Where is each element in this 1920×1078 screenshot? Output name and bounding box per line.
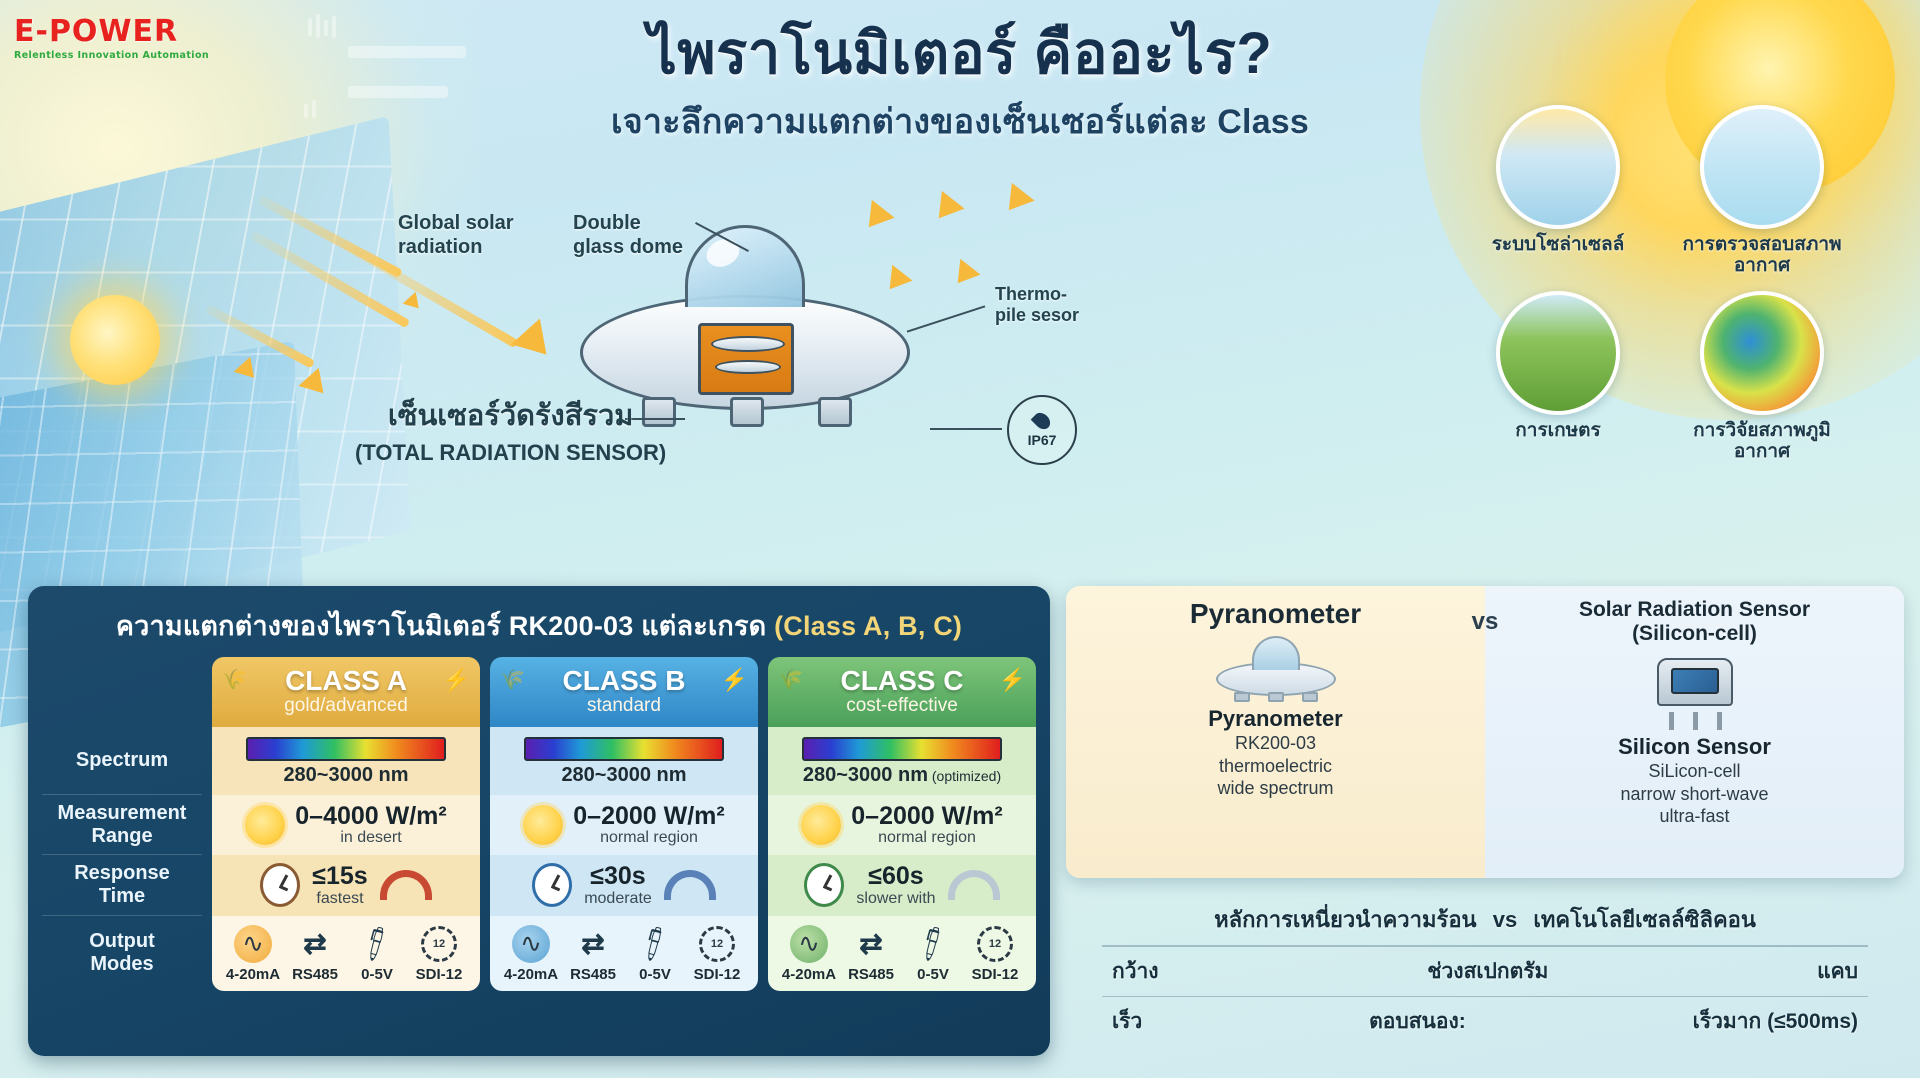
- grid-corner: [42, 657, 202, 727]
- silicon-desc-2: narrow short-wave: [1495, 783, 1894, 806]
- bolt-icon: ⚡: [999, 667, 1026, 693]
- device-foot: [818, 397, 852, 427]
- class-b-header: 🌾 ⚡ CLASS B standard: [490, 657, 758, 727]
- range-note: in desert: [295, 829, 446, 847]
- pyranometer-column: Pyranometer Pyranometer RK200-03 thermoe…: [1066, 586, 1485, 878]
- comparison-principle-row: หลักการเหนี่ยวนำความร้อน vs เทคโนโลยีเซล…: [1082, 902, 1888, 937]
- output-mode-item: 🖊 0-5V: [902, 924, 964, 983]
- leader-line-ip67: [930, 428, 1002, 430]
- response-value: ≤15s: [312, 863, 367, 889]
- row-label-output-modes: Output Modes: [42, 916, 202, 991]
- class-panel-title-thai: ความแตกต่างของไพราโนมิเตอร์ RK200-03 แต่…: [116, 611, 774, 641]
- output-label: RS485: [562, 966, 624, 983]
- output-mode-item: 12 SDI-12: [408, 924, 470, 983]
- class-b-spectrum-cell: 280~3000 nm: [490, 727, 758, 795]
- spectrum-range: 280~3000 nm: [283, 764, 408, 786]
- sdi12-icon: 12: [421, 926, 457, 962]
- wheat-icon: 🌾: [222, 667, 247, 692]
- pyranometer-desc-3: wide spectrum: [1076, 777, 1475, 800]
- row-label-measure-line1: Measurement: [58, 802, 187, 825]
- sun-desert-icon: [245, 805, 285, 845]
- output-mode-item: 12 SDI-12: [686, 924, 748, 983]
- spectrum-right-value: แคบ: [1817, 955, 1858, 988]
- label-global-line1: Global solar: [398, 212, 514, 236]
- class-a-header: 🌾 ⚡ CLASS A gold/advanced: [212, 657, 480, 727]
- class-c-range-cell: 0–2000 W/m² normal region: [768, 795, 1036, 855]
- class-b-subtitle: standard: [496, 695, 752, 717]
- output-label: 4-20mA: [222, 966, 284, 983]
- output-mode-item: 4-20mA: [500, 924, 562, 983]
- response-note: fastest: [312, 890, 367, 908]
- spectrum-value: 280~3000 nm (optimized): [774, 764, 1030, 787]
- label-thermo-line2: pile sesor: [995, 305, 1079, 326]
- row-label-output-line1: Output: [89, 930, 155, 953]
- glass-dome-icon: [685, 225, 805, 307]
- response-value: ≤30s: [584, 863, 652, 889]
- response-value: ≤60s: [856, 863, 935, 889]
- brand-tagline: Relentless Innovation Automation: [14, 50, 209, 61]
- pyranometer-desc-1: RK200-03: [1076, 732, 1475, 755]
- class-c-header: 🌾 ⚡ CLASS C cost-effective: [768, 657, 1036, 727]
- output-label: 0-5V: [902, 966, 964, 983]
- bolt-icon: ⚡: [721, 667, 748, 693]
- principle-right: เทคโนโลยีเซลล์ซิลิคอน: [1533, 907, 1756, 932]
- silicon-desc-3: ultra-fast: [1495, 805, 1894, 828]
- label-thermo-line1: Thermo-: [995, 284, 1079, 305]
- class-a-response-cell: ≤15s fastest: [212, 855, 480, 915]
- water-drop-icon: [1031, 410, 1054, 433]
- sensor-label-english: (TOTAL RADIATION SENSOR): [355, 440, 666, 466]
- response-left-value: เร็ว: [1112, 1005, 1142, 1038]
- silicon-title-line2: (Silicon-cell): [1495, 622, 1894, 646]
- pyranometer-device-icon: [1216, 636, 1336, 702]
- output-mode-item: 12 SDI-12: [964, 924, 1026, 983]
- output-label: 4-20mA: [500, 966, 562, 983]
- sun-icon: [523, 805, 563, 845]
- silicon-title-line1: Solar Radiation Sensor: [1495, 598, 1894, 622]
- class-c-spectrum-cell: 280~3000 nm (optimized): [768, 727, 1036, 795]
- sdi12-icon: 12: [977, 926, 1013, 962]
- range-value: 0–2000 W/m²: [851, 803, 1002, 829]
- brand-logo: E-POWER Relentless Innovation Automation: [14, 14, 209, 61]
- output-mode-item: 4-20mA: [778, 924, 840, 983]
- application-caption: การเกษตร: [1478, 421, 1638, 442]
- pyranometer-title: Pyranometer: [1076, 598, 1475, 630]
- label-thermopile-sensor: Thermo- pile sesor: [995, 284, 1079, 326]
- class-c-output-cell: 4-20mA ⇄ RS485 🖊 0-5V 12 SDI-12: [768, 916, 1036, 991]
- weather-station-icon: [1700, 105, 1824, 229]
- bolt-icon: ⚡: [443, 667, 470, 693]
- row-label-output-line2: Modes: [89, 953, 155, 976]
- spectrum-range: 280~3000 nm: [803, 764, 928, 786]
- row-label-spectrum: Spectrum: [42, 727, 202, 795]
- leader-line-thermo: [907, 305, 986, 332]
- class-panel-title: ความแตกต่างของไพราโนมิเตอร์ RK200-03 แต่…: [42, 604, 1036, 647]
- output-mode-item: ⇄ RS485: [562, 924, 624, 983]
- cloud-icon: [948, 870, 1000, 900]
- small-sun-icon: [70, 295, 160, 385]
- silicon-desc-1: SiLicon-cell: [1495, 760, 1894, 783]
- gauge-icon: [664, 870, 716, 900]
- application-item: การวิจัยสภาพภูมิอากาศ: [1682, 291, 1842, 463]
- output-mode-item: 🖊 0-5V: [624, 924, 686, 983]
- ray-arrow: [927, 191, 964, 227]
- response-note: moderate: [584, 890, 652, 908]
- clock-icon: [260, 863, 300, 907]
- range-note: normal region: [573, 829, 724, 847]
- divider: [1102, 945, 1868, 947]
- class-c-subtitle: cost-effective: [774, 695, 1030, 717]
- class-a-name: CLASS A: [218, 665, 474, 697]
- range-value: 0–4000 W/m²: [295, 803, 446, 829]
- output-mode-item: ⇄ RS485: [840, 924, 902, 983]
- response-right-value: เร็วมาก (≤500ms): [1693, 1005, 1858, 1038]
- device-foot: [730, 397, 764, 427]
- class-b-range-cell: 0–2000 W/m² normal region: [490, 795, 758, 855]
- class-comparison-grid: 🌾 ⚡ CLASS A gold/advanced 🌾 ⚡ CLASS B st…: [42, 657, 1036, 991]
- clock-icon: [532, 863, 572, 907]
- silicon-device-name: Silicon Sensor: [1495, 734, 1894, 760]
- output-label: SDI-12: [408, 966, 470, 983]
- spectrum-bar: [246, 737, 446, 761]
- solar-panel-icon: [1496, 105, 1620, 229]
- output-label: 0-5V: [346, 966, 408, 983]
- row-label-response-line2: Time: [74, 885, 170, 908]
- label-global-radiation: Global solar radiation: [398, 212, 514, 259]
- brand-name: E-POWER: [14, 14, 209, 49]
- spectrum-value: 280~3000 nm: [218, 764, 474, 787]
- application-caption: ระบบโซล่าเซลล์: [1478, 235, 1638, 256]
- spectrum-value: 280~3000 nm: [496, 764, 752, 787]
- divider: [1102, 996, 1868, 998]
- label-global-line2: radiation: [398, 236, 514, 260]
- silicon-sensor-icon: [1647, 652, 1743, 730]
- output-label: RS485: [840, 966, 902, 983]
- spectrum-range: 280~3000 nm: [561, 764, 686, 786]
- voltage-probe-icon: 🖊: [355, 922, 399, 965]
- climate-map-icon: [1700, 291, 1824, 415]
- vs-label: vs: [1472, 608, 1499, 636]
- application-item: ระบบโซล่าเซลล์: [1478, 105, 1638, 277]
- sensor-label-thai: เซ็นเซอร์วัดรังสีรวม: [355, 392, 666, 438]
- rs485-arrows-icon: ⇄: [859, 930, 882, 958]
- class-comparison-panel: ความแตกต่างของไพราโนมิเตอร์ RK200-03 แต่…: [28, 586, 1050, 1056]
- output-label: 4-20mA: [778, 966, 840, 983]
- clock-icon: [804, 863, 844, 907]
- voltage-probe-icon: 🖊: [633, 922, 677, 965]
- page-title: ไพราโนมิเตอร์ คืออะไร?: [0, 22, 1920, 86]
- sdi12-icon: 12: [699, 926, 735, 962]
- class-b-output-cell: 4-20mA ⇄ RS485 🖊 0-5V 12 SDI-12: [490, 916, 758, 991]
- row-label-measure-line2: Range: [58, 825, 187, 848]
- output-mode-item: 4-20mA: [222, 924, 284, 983]
- pyranometer-desc-2: thermoelectric: [1076, 755, 1475, 778]
- application-caption: การตรวจสอบสภาพอากาศ: [1682, 235, 1842, 277]
- class-a-range-cell: 0–4000 W/m² in desert: [212, 795, 480, 855]
- comparison-response-row: เร็ว ตอบสนอง: เร็วมาก (≤500ms): [1082, 1005, 1888, 1038]
- gauge-icon: [380, 870, 432, 900]
- ip67-text: IP67: [1028, 432, 1057, 448]
- rs485-arrows-icon: ⇄: [303, 930, 326, 958]
- comparison-summary-rows: หลักการเหนี่ยวนำความร้อน vs เทคโนโลยีเซล…: [1066, 884, 1904, 1056]
- output-label: RS485: [284, 966, 346, 983]
- application-icons: ระบบโซล่าเซลล์ การตรวจสอบสภาพอากาศ การเก…: [1478, 105, 1898, 477]
- total-radiation-sensor-label: เซ็นเซอร์วัดรังสีรวม (TOTAL RADIATION SE…: [355, 392, 666, 466]
- current-wave-icon: [512, 925, 550, 963]
- range-value: 0–2000 W/m²: [573, 803, 724, 829]
- application-caption: การวิจัยสภาพภูมิอากาศ: [1682, 421, 1842, 463]
- ray-arrow: [997, 183, 1034, 219]
- application-item: การเกษตร: [1478, 291, 1638, 463]
- current-wave-icon: [790, 925, 828, 963]
- class-panel-title-accent: (Class A, B, C): [774, 611, 962, 641]
- application-item: การตรวจสอบสภาพอากาศ: [1682, 105, 1842, 277]
- output-label: 0-5V: [624, 966, 686, 983]
- spectrum-bar: [524, 737, 724, 761]
- silicon-sensor-column: Solar Radiation Sensor (Silicon-cell) Si…: [1485, 586, 1904, 878]
- wheat-icon: 🌾: [778, 667, 803, 692]
- thermopile-sensor-icon: [698, 323, 794, 395]
- row-label-response-time: Response Time: [42, 855, 202, 915]
- current-wave-icon: [234, 925, 272, 963]
- rs485-arrows-icon: ⇄: [581, 930, 604, 958]
- class-a-subtitle: gold/advanced: [218, 695, 474, 717]
- response-mid-label: ตอบสนอง:: [1369, 1005, 1466, 1038]
- class-c-name: CLASS C: [774, 665, 1030, 697]
- voltage-probe-icon: 🖊: [911, 922, 955, 965]
- agriculture-field-icon: [1496, 291, 1620, 415]
- ray-arrow: [511, 319, 560, 368]
- response-note: slower with: [856, 890, 935, 908]
- class-c-response-cell: ≤60s slower with: [768, 855, 1036, 915]
- spectrum-note: (optimized): [928, 768, 1001, 784]
- spectrum-mid-label: ช่วงสเปกตรัม: [1427, 955, 1548, 988]
- class-a-spectrum-cell: 280~3000 nm: [212, 727, 480, 795]
- comparison-spectrum-row: กว้าง ช่วงสเปกตรัม แคบ: [1082, 955, 1888, 988]
- output-mode-item: ⇄ RS485: [284, 924, 346, 983]
- pyranometer-vs-silicon-panel: vs Pyranometer Pyranometer RK200-03 ther…: [1066, 586, 1904, 878]
- principle-left: หลักการเหนี่ยวนำความร้อน: [1214, 907, 1477, 932]
- spectrum-left-value: กว้าง: [1112, 955, 1159, 988]
- wheat-icon: 🌾: [500, 667, 525, 692]
- ray-arrow: [948, 259, 981, 291]
- pyranometer-device-name: Pyranometer: [1076, 706, 1475, 732]
- range-note: normal region: [851, 829, 1002, 847]
- class-a-output-cell: 4-20mA ⇄ RS485 🖊 0-5V 12 SDI-12: [212, 916, 480, 991]
- class-b-response-cell: ≤30s moderate: [490, 855, 758, 915]
- ip67-badge: IP67: [1007, 395, 1077, 465]
- class-b-name: CLASS B: [496, 665, 752, 697]
- spectrum-bar: [802, 737, 1002, 761]
- principle-vs: vs: [1493, 907, 1517, 932]
- row-label-response-line1: Response: [74, 862, 170, 885]
- output-mode-item: 🖊 0-5V: [346, 924, 408, 983]
- output-label: SDI-12: [686, 966, 748, 983]
- sun-icon: [801, 805, 841, 845]
- row-label-measurement-range: Measurement Range: [42, 795, 202, 855]
- output-label: SDI-12: [964, 966, 1026, 983]
